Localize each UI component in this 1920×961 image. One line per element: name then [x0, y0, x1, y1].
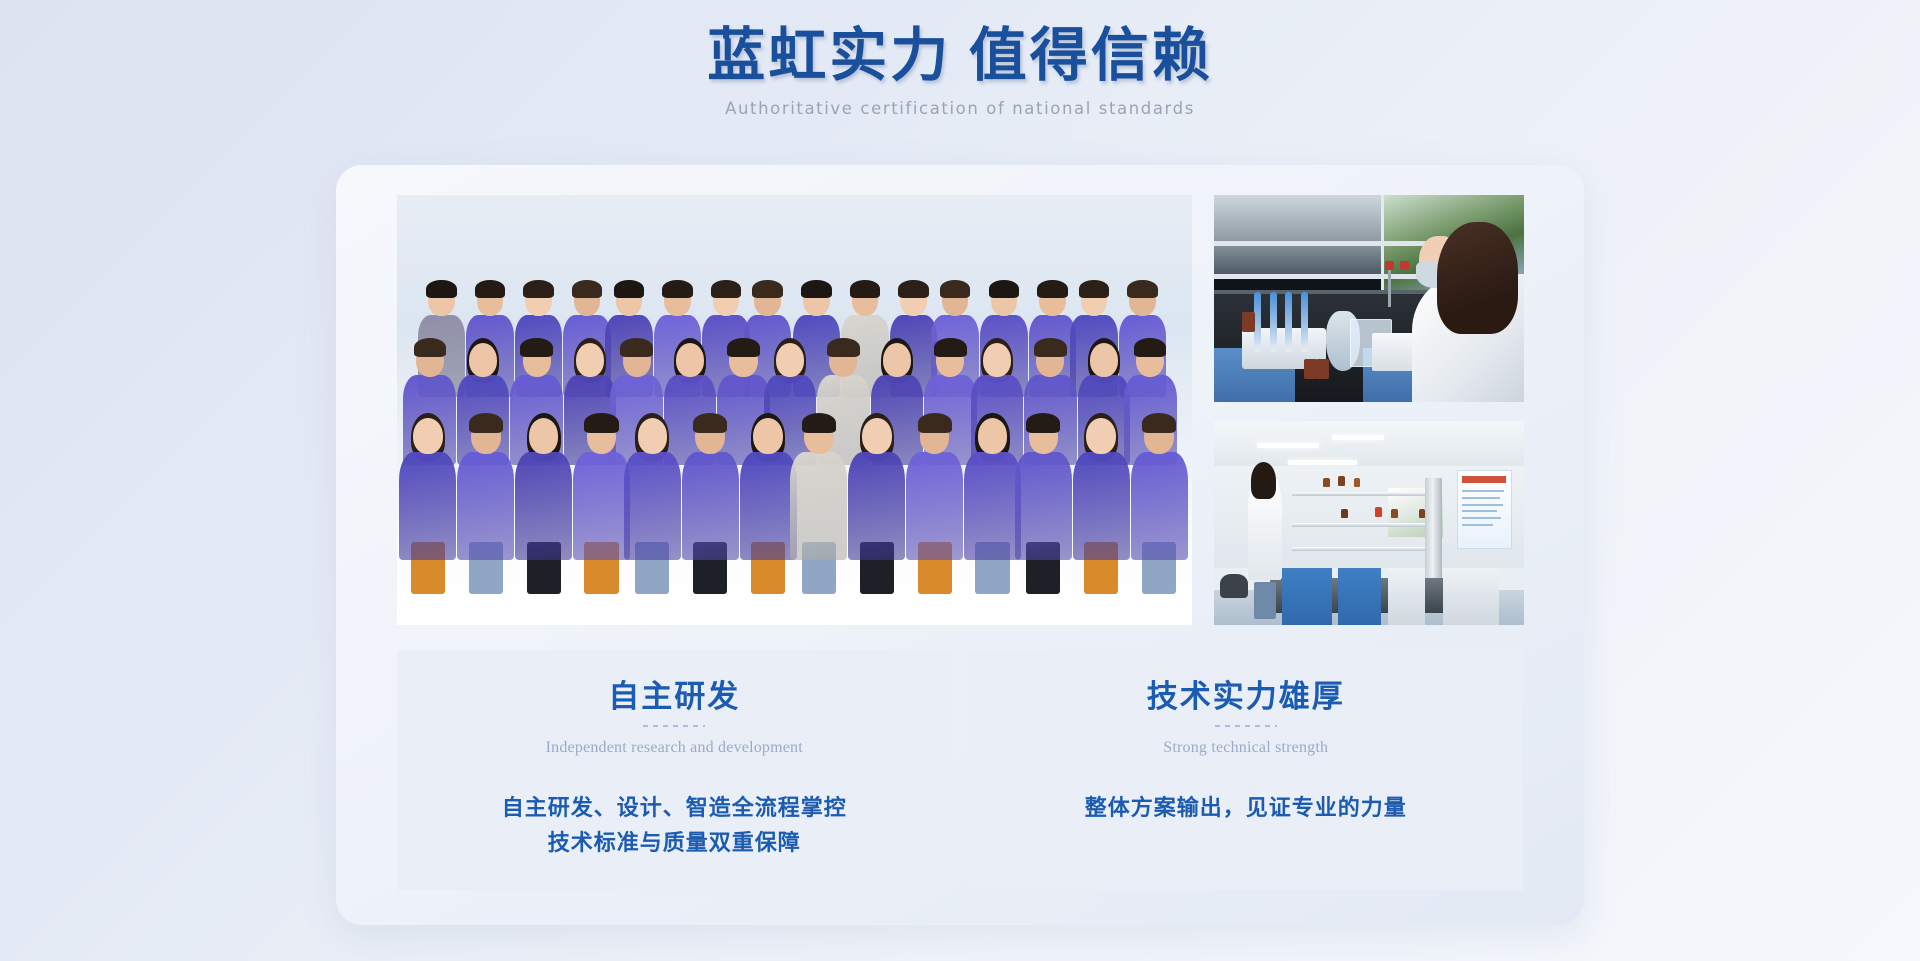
group-photo-person-head [862, 418, 892, 454]
group-photo-person-hair [940, 280, 971, 298]
feature-card-body-line: 自主研发、设计、智造全流程掌控 [502, 791, 847, 826]
lab-clamp-2 [1400, 261, 1409, 270]
lab-amber-bottle-2 [1316, 359, 1329, 379]
group-photo-person-hair [1127, 280, 1158, 298]
lab-room-shelf-low [1292, 547, 1441, 551]
feature-card-subtitle: Strong technical strength [1163, 739, 1328, 757]
lab-room-bottle-3 [1354, 478, 1360, 487]
lab-room-person-legs [1254, 582, 1276, 619]
page-header: 蓝虹实力 值得信赖 Authoritative certification of… [0, 24, 1920, 118]
group-photo-person-hair [1134, 338, 1166, 357]
group-photo-person-head [469, 343, 497, 377]
page-subtitle: Authoritative certification of national … [0, 99, 1920, 118]
lab-room-bottle-6 [1391, 509, 1398, 518]
lab-technician-hair [1437, 222, 1518, 334]
group-photo-person-hair [662, 280, 693, 298]
group-photo-people [397, 195, 1192, 625]
lab-room-person-hair [1251, 462, 1276, 499]
group-photo-person-jacket [573, 452, 630, 560]
lab-amber-bottle-3 [1242, 312, 1255, 332]
lab-poster-line-1 [1462, 490, 1504, 492]
group-photo-person-head [983, 343, 1011, 377]
page-root: 蓝虹实力 值得信赖 Authoritative certification of… [0, 0, 1920, 961]
lab-room-notice-poster [1457, 470, 1512, 550]
group-photo-person [1015, 410, 1072, 560]
lab-room-cabinet-blue-2 [1338, 568, 1381, 625]
content-panel: 自主研发 Independent research and developmen… [336, 165, 1584, 925]
group-photo-person-hair [827, 338, 859, 357]
group-photo-person-hair [1079, 280, 1110, 298]
lab-room-bottle-7 [1419, 509, 1425, 518]
group-photo-person-hair [1026, 413, 1060, 433]
group-photo-person-jacket [1131, 452, 1188, 560]
lab-bench-wall [1214, 195, 1388, 278]
group-photo-person-head [753, 418, 783, 454]
group-photo-person-hair [572, 280, 603, 298]
lab-technician-pipetting-photo [1214, 195, 1524, 402]
lab-room-light-3 [1288, 460, 1356, 465]
feature-card-body: 自主研发、设计、智造全流程掌控 技术标准与质量双重保障 [502, 791, 847, 861]
lab-room-light-2 [1332, 435, 1385, 440]
group-photo-person-jacket [1073, 452, 1130, 560]
group-photo-person-head [883, 343, 911, 377]
feature-card-subtitle: Independent research and development [546, 739, 803, 757]
laboratory-room-photo [1214, 421, 1524, 625]
group-photo-person [964, 410, 1021, 560]
group-photo-person [682, 410, 739, 560]
lab-room-bottle-5 [1375, 507, 1382, 517]
media-gallery [397, 195, 1523, 625]
group-photo-person-hair [989, 280, 1020, 298]
lab-poster-line-5 [1462, 517, 1501, 519]
group-photo-person [906, 410, 963, 560]
group-photo-person-hair [523, 280, 554, 298]
group-photo-person [573, 410, 630, 560]
lab-room-bottle-1 [1323, 478, 1330, 487]
group-photo-person-jacket [682, 452, 739, 560]
group-photo-person [457, 410, 514, 560]
group-photo-person-hair [693, 413, 727, 433]
group-photo-person-jacket [457, 452, 514, 560]
group-photo-person-hair [1142, 413, 1176, 433]
feature-card-title: 技术实力雄厚 [1147, 678, 1345, 715]
group-photo-person [1131, 410, 1188, 560]
group-photo-person-hair [752, 280, 783, 298]
group-photo-person-hair [414, 338, 446, 357]
group-photo-person [399, 410, 456, 560]
group-photo-person-jacket [790, 452, 847, 560]
lab-pipette-1 [1254, 292, 1261, 352]
group-photo-person-hair [584, 413, 618, 433]
lab-room-cabinet-white-1 [1388, 568, 1425, 625]
lab-poster-line-4 [1462, 510, 1497, 512]
lab-room-shelf-top [1292, 492, 1441, 496]
lab-poster-header-bar [1462, 476, 1506, 483]
lab-amber-bottle-1 [1304, 359, 1317, 379]
page-title: 蓝虹实力 值得信赖 [0, 24, 1920, 89]
lab-room-bottle-2 [1338, 476, 1345, 486]
group-photo-person-hair [620, 338, 652, 357]
group-photo-person-head [978, 418, 1008, 454]
feature-card-independent-rd: 自主研发 Independent research and developmen… [397, 650, 952, 890]
lab-poster-line-2 [1462, 497, 1500, 499]
group-photo-person-hair [934, 338, 966, 357]
group-photo-person-jacket [740, 452, 797, 560]
feature-card-title: 自主研发 [608, 678, 740, 715]
group-photo-person-hair [614, 280, 645, 298]
feature-card-divider [643, 725, 705, 727]
group-photo-person-hair [918, 413, 952, 433]
group-photo-person-jacket [906, 452, 963, 560]
group-photo-person-hair [850, 280, 881, 298]
group-photo-person-hair [802, 413, 836, 433]
lab-room-shelf-mid [1292, 523, 1441, 527]
group-photo-person [515, 410, 572, 560]
lab-room-service-column [1425, 478, 1442, 584]
lab-room-scene [1214, 421, 1524, 625]
group-photo-person-head [776, 343, 804, 377]
feature-card-body-line: 整体方案输出，见证专业的力量 [1085, 791, 1407, 826]
lab-pipette-2 [1270, 292, 1277, 352]
group-photo-person-jacket [848, 452, 905, 560]
company-team-group-photo [397, 195, 1192, 625]
group-photo-person-hair [426, 280, 457, 298]
group-photo-person-jacket [964, 452, 1021, 560]
group-photo-person-hair [1037, 280, 1068, 298]
lab-bench-shelf-upper [1214, 241, 1456, 246]
group-photo-person-hair [711, 280, 742, 298]
group-photo-person-head [1086, 418, 1116, 454]
group-photo-backdrop [397, 195, 1192, 625]
group-photo-person-jacket [515, 452, 572, 560]
group-photo-person-hair [727, 338, 759, 357]
feature-card-body: 整体方案输出，见证专业的力量 [1085, 791, 1407, 826]
group-photo-person [848, 410, 905, 560]
lab-poster-line-3 [1462, 504, 1503, 506]
group-photo-person-hair [801, 280, 832, 298]
group-photo-person-hair [469, 413, 503, 433]
group-photo-person-head [676, 343, 704, 377]
group-photo-person-jacket [399, 452, 456, 560]
group-photo-person-hair [898, 280, 929, 298]
lab-clamp-1 [1385, 261, 1394, 270]
group-photo-person [1073, 410, 1130, 560]
group-photo-person [740, 410, 797, 560]
lab-room-cabinet-white-2 [1443, 568, 1499, 625]
feature-card-body-line: 技术标准与质量双重保障 [502, 826, 847, 861]
lab-room-cabinet-blue-1 [1282, 568, 1332, 625]
group-photo-person-jacket [624, 452, 681, 560]
lab-room-bottle-4 [1341, 509, 1348, 518]
lab-room-stool [1220, 574, 1248, 598]
feature-card-technical-strength: 技术实力雄厚 Strong technical strength 整体方案输出，… [969, 650, 1524, 890]
lab-poster-line-6 [1462, 524, 1493, 526]
group-photo-person [624, 410, 681, 560]
lab-bench-scene [1214, 195, 1524, 402]
group-photo-person-head [529, 418, 559, 454]
feature-cards: 自主研发 Independent research and developmen… [397, 650, 1523, 890]
lab-pipette-3 [1285, 292, 1292, 352]
group-photo-person-hair [475, 280, 506, 298]
lab-pipette-4 [1301, 292, 1308, 352]
feature-card-divider [1215, 725, 1277, 727]
group-photo-person-jacket [1015, 452, 1072, 560]
group-photo-person-head [638, 418, 668, 454]
group-photo-person-head [576, 343, 604, 377]
group-photo-person-hair [1034, 338, 1066, 357]
lab-room-light-1 [1257, 443, 1319, 448]
group-photo-person-hair [520, 338, 552, 357]
group-photo-person-head [413, 418, 443, 454]
group-photo-person [790, 410, 847, 560]
group-photo-person-head [1090, 343, 1118, 377]
